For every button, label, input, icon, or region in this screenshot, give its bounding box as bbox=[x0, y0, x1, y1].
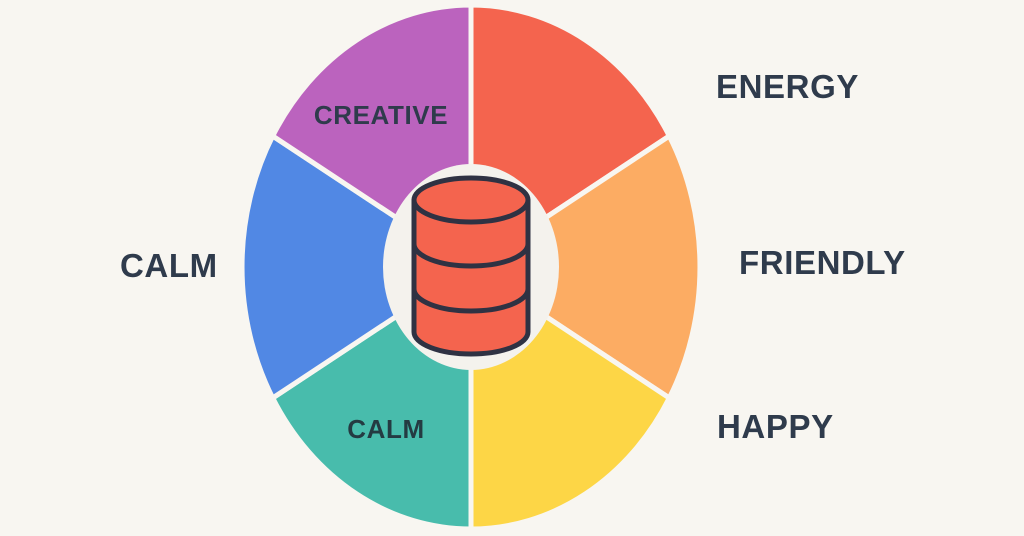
infographic-canvas: CREATIVE CALM ENERGY FRIENDLY HAPPY CALM bbox=[0, 0, 1024, 536]
outside-label-calm-left: CALM bbox=[120, 249, 218, 282]
outside-label-energy: ENERGY bbox=[716, 70, 859, 103]
outside-label-friendly: FRIENDLY bbox=[739, 246, 906, 279]
outside-label-happy: HAPPY bbox=[717, 410, 834, 443]
slice-label-calm-teal: CALM bbox=[347, 414, 425, 444]
slice-label-creative: CREATIVE bbox=[314, 100, 448, 130]
database-icon bbox=[414, 178, 528, 354]
